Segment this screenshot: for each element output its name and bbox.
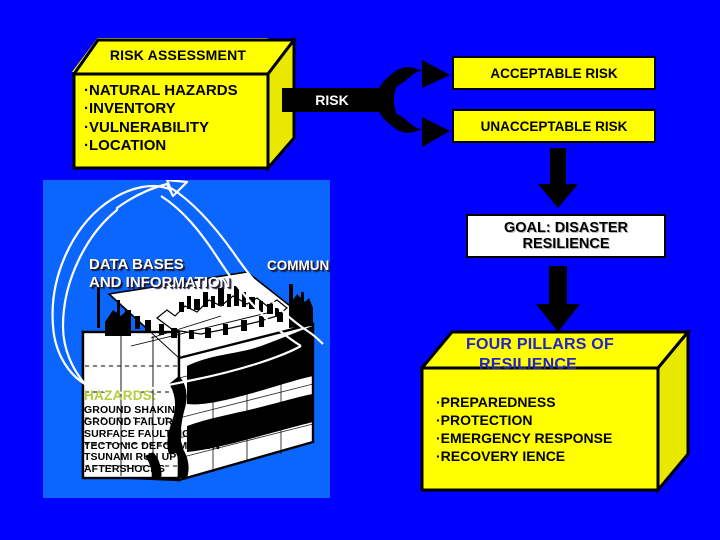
risk-assessment-title: RISK ASSESSMENT (80, 47, 276, 63)
arrow-down-icon-2 (534, 266, 582, 334)
four-pillars-bullets: ·PREPAREDNESS ·PROTECTION ·EMERGENCY RES… (436, 394, 612, 466)
risk-assessment-bullets: ·NATURAL HAZARDS ·INVENTORY ·VULNERABILI… (84, 82, 238, 155)
goal-line-1: GOAL: DISASTER (504, 220, 628, 236)
risk-assessment-bullet-0: ·NATURAL HAZARDS (84, 82, 238, 100)
diagram-canvas: RISK ASSESSMENT ·NATURAL HAZARDS ·INVENT… (0, 0, 720, 540)
hazards-item-2: SURFACE FAULTING (84, 429, 220, 441)
four-pillars-bullet-0: ·PREPAREDNESS (436, 394, 612, 412)
risk-assessment-bullet-2: ·VULNERABILITY (84, 119, 238, 137)
risk-assessment-box[interactable]: RISK ASSESSMENT ·NATURAL HAZARDS ·INVENT… (72, 38, 292, 170)
hazards-title: HAZARDS: (84, 388, 157, 403)
acceptable-risk-box[interactable]: ACCEPTABLE RISK (452, 56, 656, 90)
four-pillars-box[interactable]: FOUR PILLARS OF RESILIENCE ·PREPAREDNESS… (420, 330, 688, 492)
unacceptable-risk-box[interactable]: UNACCEPTABLE RISK (452, 109, 656, 143)
community-label: COMMUNITY (267, 258, 330, 274)
acceptable-risk-label: ACCEPTABLE RISK (490, 66, 617, 81)
four-pillars-title-line-2: RESILIENCE (408, 356, 648, 374)
hazards-item-5: AFTERSHOCKS (84, 464, 220, 476)
risk-label: RISK (300, 88, 364, 112)
goal-box[interactable]: GOAL: DISASTER RESILIENCE (466, 214, 666, 258)
unacceptable-risk-label: UNACCEPTABLE RISK (481, 119, 628, 134)
hazards-list: GROUND SHAKING GROUND FAILURE SURFACE FA… (84, 405, 220, 476)
illustration-panel: DATA BASES AND INFORMATION COMMUNITY HAZ… (43, 180, 330, 498)
risk-assessment-bullet-1: ·INVENTORY (84, 100, 238, 118)
four-pillars-bullet-2: ·EMERGENCY RESPONSE (436, 430, 612, 448)
risk-label-text: RISK (315, 92, 348, 108)
four-pillars-bullet-1: ·PROTECTION (436, 412, 612, 430)
risk-assessment-bullet-3: ·LOCATION (84, 137, 238, 155)
databases-label: DATA BASES AND INFORMATION (89, 256, 230, 291)
goal-line-2: RESILIENCE (522, 236, 609, 252)
arrow-down-icon-1 (536, 148, 580, 210)
curved-arrow-up-icon (43, 180, 330, 410)
hazards-item-1: GROUND FAILURE (84, 417, 220, 429)
four-pillars-bullet-3: ·RECOVERY IENCE (436, 448, 612, 466)
four-pillars-title-line-1: FOUR PILLARS OF (420, 336, 660, 354)
